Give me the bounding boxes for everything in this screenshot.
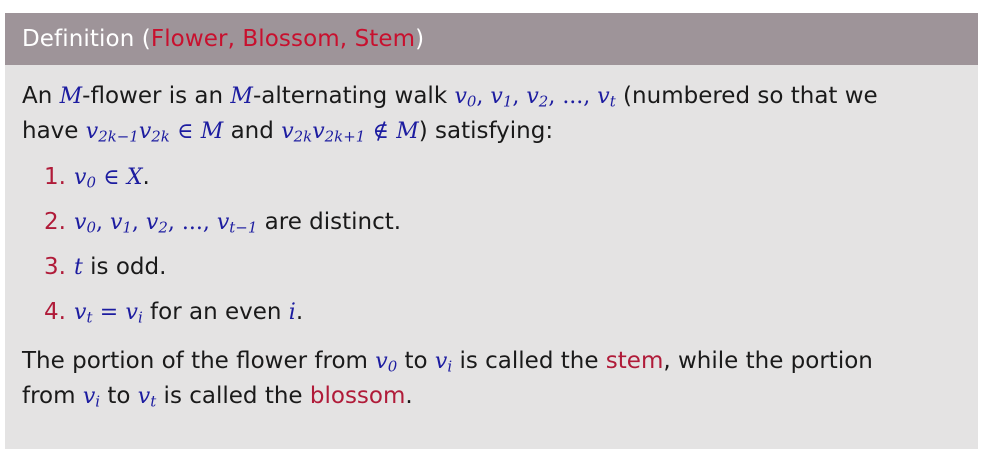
walk-sep-4: , <box>583 84 597 109</box>
tail-text-2: to <box>397 348 435 374</box>
walk-ellipsis: ... <box>562 84 583 109</box>
definition-header-label: Definition <box>22 26 134 52</box>
math-M-1: M <box>60 84 83 109</box>
list-item-number: 2. <box>44 200 66 244</box>
math-vi-rhs: vi <box>126 300 143 325</box>
list-item-4-tail: for an even <box>143 299 289 325</box>
lead-text-2: -flower is an <box>82 83 230 109</box>
lead-text-6: ) satisfying: <box>419 118 553 144</box>
math-equals-operator: = <box>100 300 118 325</box>
math-in-operator-2: ∈ <box>103 165 119 190</box>
tail-paragraph: The portion of the flower from v0 to vi … <box>22 344 892 414</box>
seq-sep-2: , <box>132 210 146 235</box>
math-v2-cond2: v2 <box>146 210 168 235</box>
math-vi-tail-1: vi <box>435 349 452 374</box>
math-v2: v2 <box>526 84 548 109</box>
math-v2k-minus-1: v2k−1 <box>86 119 139 144</box>
math-v1-sub: 1 <box>503 93 513 111</box>
definition-block-header: Definition (Flower, Blossom, Stem) <box>5 13 978 65</box>
math-v0-cond2: v0 <box>74 210 96 235</box>
walk-sep-3: , <box>548 84 562 109</box>
math-v0: v0 <box>454 84 476 109</box>
math-v2k-plus-1-sub: 2k+1 <box>325 128 366 146</box>
list-item-number: 3. <box>44 245 66 289</box>
math-vt: vt <box>597 84 615 109</box>
math-v2k-a: v2k <box>139 119 170 144</box>
lead-paragraph: An M-flower is an M-alternating walk v0,… <box>22 79 892 149</box>
list-item-1-period: . <box>143 164 150 190</box>
definition-block-body: An M-flower is an M-alternating walk v0,… <box>5 65 978 449</box>
lead-text-3: -alternating walk <box>253 83 455 109</box>
math-notin-operator: ∉ <box>373 119 389 144</box>
math-in-operator-1: ∈ <box>177 119 193 144</box>
seq-sep-3: , <box>168 210 182 235</box>
math-M-3: M <box>201 119 224 144</box>
list-item: 1.v0 ∈ X. <box>22 155 956 200</box>
math-vt-lhs-sub: t <box>86 309 92 327</box>
membership-condition-1: v2k−1v2k ∈ M <box>86 118 224 144</box>
math-v2-cond2-sub: 2 <box>158 219 168 237</box>
conditions-list: 1.v0 ∈ X. 2.v0, v1, v2, ..., vt−1 are di… <box>22 155 956 335</box>
math-v2k-a-sub: 2k <box>151 128 170 146</box>
tail-text-1: The portion of the flower from <box>22 348 375 374</box>
lead-text-1: An <box>22 83 60 109</box>
math-v2k-plus-1: v2k+1 <box>312 119 365 144</box>
math-v0-cond1: v0 <box>74 165 96 190</box>
math-v0-sub: 0 <box>467 93 477 111</box>
list-item: 3.t is odd. <box>22 245 956 290</box>
math-t: t <box>74 255 83 280</box>
math-M-4: M <box>396 119 419 144</box>
walk-sequence: v0, v1, v2, ..., vt <box>454 83 615 109</box>
math-v2k-b-sub: 2k <box>294 128 313 146</box>
membership-condition-2: v2kv2k+1 ∉ M <box>281 118 419 144</box>
keyword-stem: stem <box>606 348 664 374</box>
walk-sep-2: , <box>512 84 526 109</box>
tail-text-6: is called the <box>156 383 310 409</box>
math-vt-minus-1-sub: t−1 <box>229 219 257 237</box>
seq-sep-4: , <box>203 210 217 235</box>
list-item-3-tail: is odd. <box>83 254 167 280</box>
math-M-2: M <box>230 84 253 109</box>
math-vi-tail-2: vi <box>83 384 100 409</box>
seq-sep-1: , <box>96 210 110 235</box>
math-v0-tail-sub: 0 <box>388 358 398 376</box>
tail-text-5: to <box>100 383 138 409</box>
math-v2-sub: 2 <box>539 93 549 111</box>
definition-header-paren-open: ( <box>134 26 150 52</box>
math-v0-cond2-sub: 0 <box>86 219 96 237</box>
math-v2k-b: v2k <box>281 119 312 144</box>
math-vt-tail: vt <box>138 384 156 409</box>
walk-sep-1: , <box>476 84 490 109</box>
math-vt-lhs: vt <box>74 300 92 325</box>
math-i: i <box>289 300 296 325</box>
math-v0-tail: v0 <box>375 349 397 374</box>
math-v2k-minus-1-sub: 2k−1 <box>98 128 139 146</box>
definition-header-paren-close: ) <box>415 26 424 52</box>
definition-header-terms: Flower, Blossom, Stem <box>151 26 415 52</box>
list-item-number: 4. <box>44 290 66 334</box>
list-item-4-period: . <box>296 299 303 325</box>
tail-text-3: is called the <box>452 348 606 374</box>
tail-text-7: . <box>405 383 412 409</box>
list-item-2-tail: are distinct. <box>257 209 401 235</box>
keyword-blossom: blossom <box>310 383 406 409</box>
math-v0-cond1-sub: 0 <box>86 174 96 192</box>
math-v1: v1 <box>490 84 512 109</box>
math-vt-minus-1: vt−1 <box>217 210 258 235</box>
list-item-number: 1. <box>44 155 66 199</box>
math-v1-cond2-sub: 1 <box>122 219 132 237</box>
math-X: X <box>127 165 143 190</box>
list-item: 2.v0, v1, v2, ..., vt−1 are distinct. <box>22 200 956 245</box>
math-v1-cond2: v1 <box>110 210 132 235</box>
seq-ellipsis: ... <box>182 210 203 235</box>
list-item: 4.vt = vi for an even i. <box>22 290 956 335</box>
lead-text-5: and <box>223 118 281 144</box>
definition-block: Definition (Flower, Blossom, Stem) An M-… <box>5 13 978 449</box>
